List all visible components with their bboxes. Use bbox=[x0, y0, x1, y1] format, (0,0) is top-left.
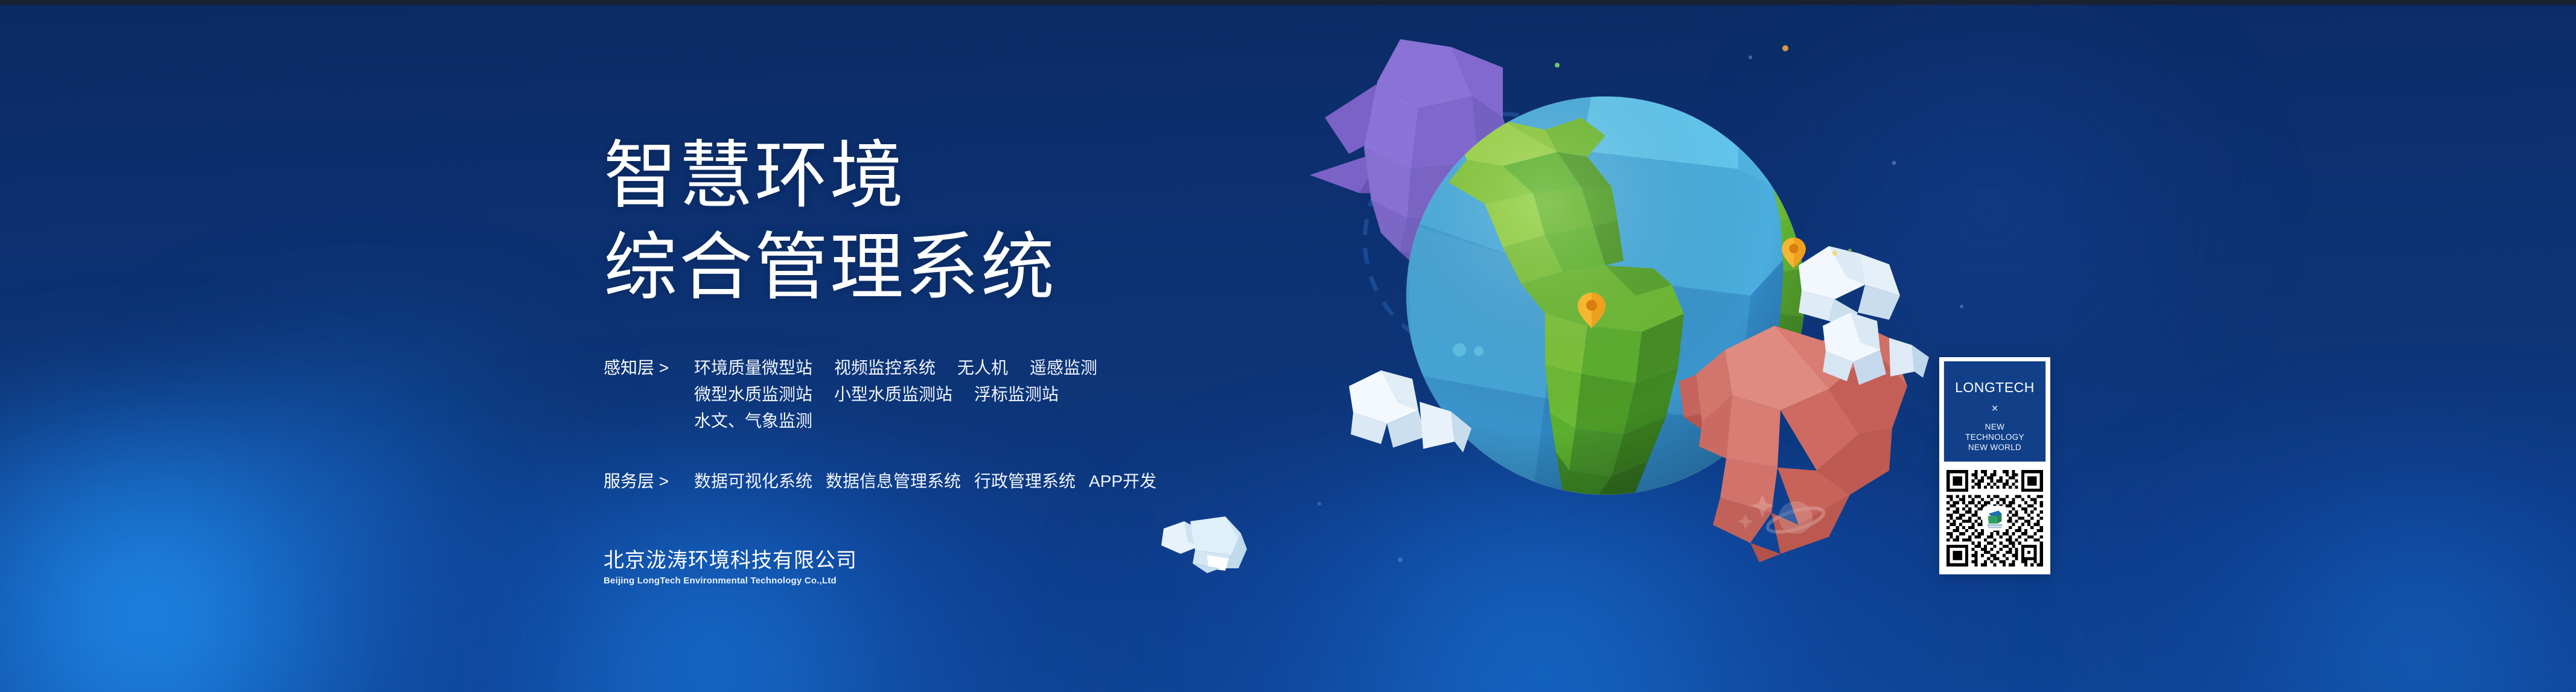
layer-item[interactable]: 小型水质监测站 bbox=[834, 381, 952, 408]
headline-block: 智慧环境 综合管理系统 bbox=[604, 130, 1056, 313]
qr-card[interactable]: LONGTECH × NEW TECHNOLOGY NEW WORLD bbox=[1939, 357, 2050, 574]
space-illustration bbox=[1219, 12, 2016, 615]
layer-group-service: 服务层 > 数据可视化系统 数据信息管理系统 行政管理系统 APP开发 bbox=[604, 468, 1170, 495]
qr-code-image[interactable] bbox=[1943, 467, 2046, 570]
layer-line: 数据可视化系统 数据信息管理系统 行政管理系统 APP开发 bbox=[694, 468, 1170, 495]
qr-card-slogan-panel: LONGTECH × NEW TECHNOLOGY NEW WORLD bbox=[1943, 361, 2046, 462]
layer-item[interactable]: 数据可视化系统 bbox=[694, 468, 812, 495]
company-name-en: Beijing LongTech Environmental Technolog… bbox=[604, 575, 857, 587]
layer-items-perception: 环境质量微型站 视频监控系统 无人机 遥感监测 微型水质监测站 小型水质监测站 … bbox=[694, 355, 1097, 434]
layer-item[interactable]: 水文、气象监测 bbox=[694, 408, 812, 434]
layer-items-service: 数据可视化系统 数据信息管理系统 行政管理系统 APP开发 bbox=[694, 468, 1170, 495]
layer-item[interactable]: 微型水质监测站 bbox=[694, 381, 812, 408]
cross-icon: × bbox=[1944, 403, 2045, 415]
cloud-icon bbox=[1823, 313, 1929, 385]
layer-line: 环境质量微型站 视频监控系统 无人机 遥感监测 bbox=[694, 355, 1097, 381]
company-name-cn: 北京泷涛环境科技有限公司 bbox=[604, 548, 857, 573]
layer-line: 水文、气象监测 bbox=[694, 408, 1097, 434]
qr-card-brand: LONGTECH bbox=[1944, 379, 2045, 395]
layer-label-perception[interactable]: 感知层 > bbox=[604, 355, 694, 381]
layer-list-block: 感知层 > 环境质量微型站 视频监控系统 无人机 遥感监测 微型水质监测站 小型… bbox=[604, 355, 1170, 495]
layer-group-perception: 感知层 > 环境质量微型站 视频监控系统 无人机 遥感监测 微型水质监测站 小型… bbox=[604, 355, 1170, 434]
qr-center-logo-icon bbox=[1983, 507, 2006, 530]
qr-card-tagline-line-3: NEW WORLD bbox=[1944, 442, 2045, 452]
headline-line-1: 智慧环境 bbox=[604, 130, 1056, 221]
banner-root: 智慧环境 综合管理系统 感知层 > 环境质量微型站 视频监控系统 无人机 遥感监… bbox=[0, 0, 2576, 692]
layer-item[interactable]: APP开发 bbox=[1089, 468, 1156, 495]
layer-item[interactable]: 行政管理系统 bbox=[974, 468, 1076, 495]
qr-card-tagline: NEW TECHNOLOGY NEW WORLD bbox=[1944, 422, 2045, 452]
layer-item[interactable]: 遥感监测 bbox=[1030, 355, 1097, 381]
layer-item[interactable]: 视频监控系统 bbox=[834, 355, 936, 381]
company-signature: 北京泷涛环境科技有限公司 Beijing LongTech Environmen… bbox=[604, 548, 857, 587]
layer-label-service[interactable]: 服务层 > bbox=[604, 468, 694, 495]
qr-card-tagline-line-2: TECHNOLOGY bbox=[1944, 432, 2045, 442]
headline-line-2: 综合管理系统 bbox=[604, 221, 1056, 313]
layer-item[interactable]: 环境质量微型站 bbox=[694, 355, 812, 381]
layer-line: 微型水质监测站 小型水质监测站 浮标监测站 bbox=[694, 381, 1097, 408]
layer-item[interactable]: 数据信息管理系统 bbox=[826, 468, 961, 495]
top-strip bbox=[0, 0, 2576, 5]
qr-card-tagline-line-1: NEW bbox=[1944, 422, 2045, 432]
layer-item[interactable]: 无人机 bbox=[957, 355, 1008, 381]
layer-item[interactable]: 浮标监测站 bbox=[974, 381, 1059, 408]
cloud-bottom-center bbox=[1135, 513, 1292, 591]
